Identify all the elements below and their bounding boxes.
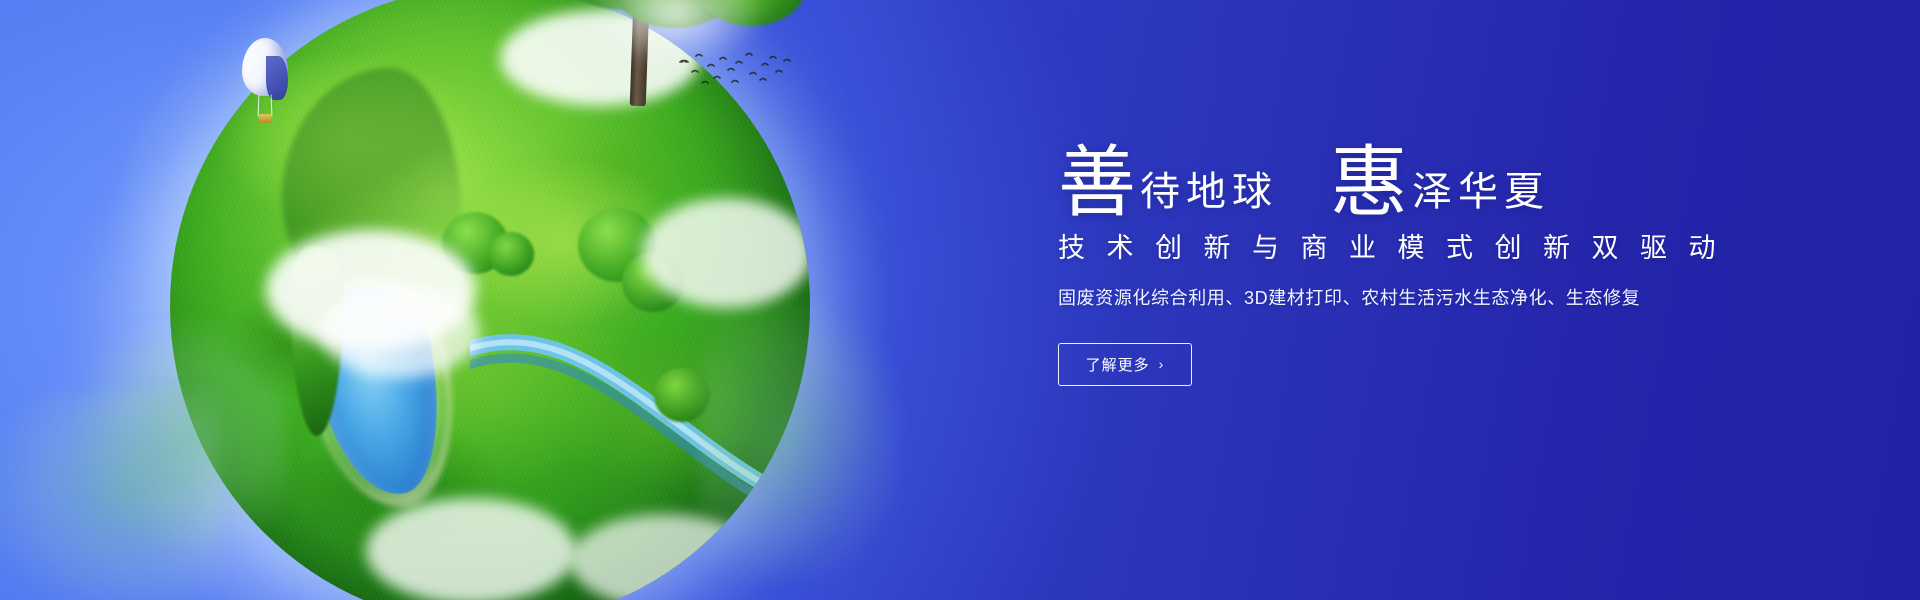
hero-banner: 善 待地球 惠 泽华夏 技 术 创 新 与 商 业 模 式 创 新 双 驱 动 … [0,0,1920,600]
headline-char-2: 惠 [1330,144,1408,222]
hot-air-balloon-icon [238,38,292,130]
learn-more-button[interactable]: 了解更多 › [1058,343,1192,386]
learn-more-label: 了解更多 [1086,354,1150,375]
balloon-basket [259,114,271,123]
tree-clump [488,232,534,276]
cloud-icon [366,498,576,600]
cloud-icon [570,514,760,600]
banner-copy: 善 待地球 惠 泽华夏 技 术 创 新 与 商 业 模 式 创 新 双 驱 动 … [1058,140,1758,386]
cloud-icon [320,286,480,378]
description: 固废资源化综合利用、3D建材打印、农村生活污水生态净化、生态修复 [1058,286,1758,311]
tree-clump [654,368,710,422]
headline-char-1: 善 [1058,144,1136,222]
headline-text-2: 泽华夏 [1412,172,1550,212]
balloon-panel [266,56,288,100]
headline: 善 待地球 惠 泽华夏 [1058,140,1758,218]
headline-text-1: 待地球 [1140,172,1278,212]
bird-flock-icon [676,50,796,98]
subtitle: 技 术 创 新 与 商 业 模 式 创 新 双 驱 动 [1058,232,1758,266]
cloud-icon [642,198,810,308]
chevron-right-icon: › [1159,357,1165,371]
